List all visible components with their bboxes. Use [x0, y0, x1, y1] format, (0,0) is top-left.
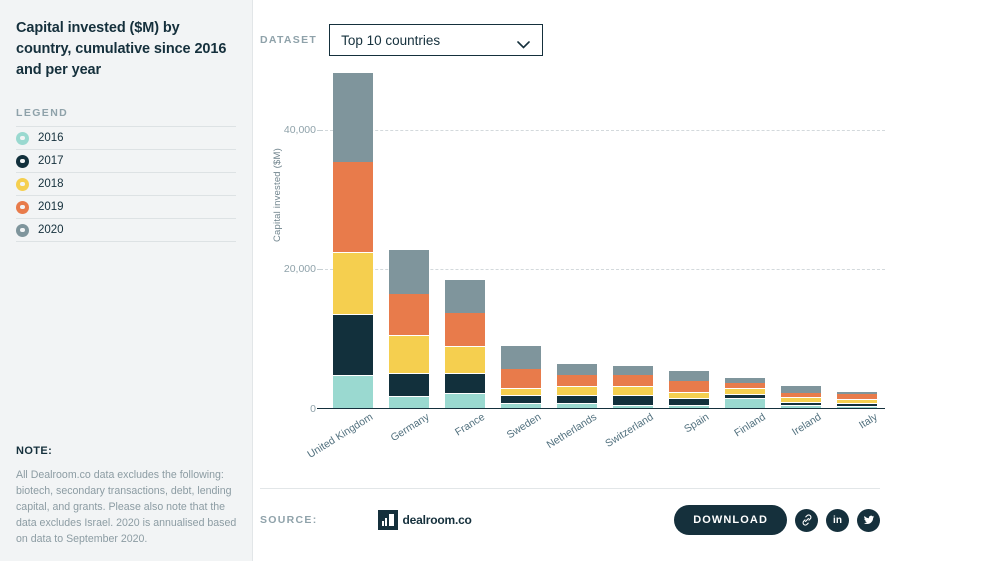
legend-swatch-icon — [16, 155, 29, 168]
footer-actions: DOWNLOAD in — [674, 505, 880, 535]
x-axis-label: Germany — [389, 411, 432, 444]
note-block: NOTE: All Dealroom.co data excludes the … — [16, 445, 238, 547]
bar-segment[interactable] — [613, 366, 653, 374]
legend-heading: LEGEND — [16, 107, 236, 127]
bar-segment[interactable] — [333, 73, 373, 162]
x-axis-label: France — [453, 411, 487, 438]
bar-column[interactable] — [557, 364, 597, 409]
bar-segment[interactable] — [501, 369, 541, 390]
bar-column[interactable] — [781, 386, 821, 409]
legend-item-label: 2018 — [38, 178, 64, 190]
x-axis-label: Switzerland — [603, 411, 655, 450]
legend-item-label: 2016 — [38, 132, 64, 144]
bar-column[interactable] — [613, 366, 653, 409]
bar-segment[interactable] — [445, 374, 485, 394]
main-panel: DATASET Top 10 countries Capital investe… — [253, 0, 995, 561]
footer-divider — [260, 488, 880, 489]
bar-segment[interactable] — [333, 376, 373, 410]
x-axis-label: Netherlands — [545, 411, 599, 451]
bar-segment[interactable] — [501, 389, 541, 396]
bar-column[interactable] — [445, 280, 485, 409]
y-tick-label: 0 — [310, 403, 316, 415]
x-axis-label: United Kingdom — [305, 411, 375, 461]
x-axis-line — [317, 408, 885, 409]
linkedin-icon[interactable]: in — [826, 509, 849, 532]
x-axis-label: Italy — [857, 411, 880, 431]
dataset-control-row: DATASET Top 10 countries — [253, 0, 995, 56]
bar-column[interactable] — [669, 371, 709, 409]
bar-segment[interactable] — [333, 162, 373, 253]
note-body: All Dealroom.co data excludes the follow… — [16, 467, 238, 547]
bar-series-layer — [325, 74, 885, 409]
legend-swatch-icon — [16, 178, 29, 191]
bar-segment[interactable] — [669, 371, 709, 381]
bar-column[interactable] — [837, 392, 877, 409]
download-button[interactable]: DOWNLOAD — [674, 505, 787, 535]
twitter-icon[interactable] — [857, 509, 880, 532]
x-axis-label: Ireland — [790, 411, 824, 438]
y-tick-label: 20,000 — [284, 263, 316, 275]
link-icon[interactable] — [795, 509, 818, 532]
footer: SOURCE: dealroom.co DOWNLOAD in — [260, 504, 880, 536]
x-axis-label: Sweden — [505, 411, 544, 441]
legend-item-label: 2019 — [38, 201, 64, 213]
legend-swatch-icon — [16, 201, 29, 214]
bar-column[interactable] — [333, 73, 373, 409]
bar-column[interactable] — [389, 250, 429, 409]
legend-item[interactable]: 2017 — [16, 150, 236, 173]
bar-segment[interactable] — [445, 313, 485, 347]
bar-segment[interactable] — [445, 280, 485, 314]
page-title: Capital invested ($M) by country, cumula… — [16, 18, 236, 81]
bar-segment[interactable] — [557, 375, 597, 387]
plot-area: 020,00040,000 — [325, 74, 885, 409]
bar-segment[interactable] — [613, 387, 653, 397]
legend-item[interactable]: 2019 — [16, 196, 236, 219]
brand-name: dealroom.co — [403, 513, 472, 527]
chart-page: Capital invested ($M) by country, cumula… — [0, 0, 995, 561]
bar-segment[interactable] — [389, 250, 429, 294]
y-tick-label: 40,000 — [284, 124, 316, 136]
x-axis-labels: United KingdomGermanyFranceSwedenNetherl… — [325, 411, 885, 491]
legend-swatch-icon — [16, 224, 29, 237]
dealroom-logo: dealroom.co — [378, 510, 472, 530]
bar-segment[interactable] — [445, 394, 485, 409]
bar-segment[interactable] — [557, 396, 597, 404]
legend-item[interactable]: 2016 — [16, 127, 236, 150]
bar-segment[interactable] — [333, 315, 373, 376]
y-tick-mark — [317, 269, 323, 270]
note-heading: NOTE: — [16, 445, 238, 457]
dataset-label: DATASET — [260, 34, 317, 46]
bar-segment[interactable] — [613, 396, 653, 405]
bar-segment[interactable] — [501, 396, 541, 404]
bar-segment[interactable] — [557, 364, 597, 374]
chart: Capital invested ($M) 020,00040,000 Unit… — [260, 74, 885, 494]
y-axis-title: Capital invested ($M) — [272, 148, 283, 242]
sidebar: Capital invested ($M) by country, cumula… — [0, 0, 253, 561]
bar-segment[interactable] — [501, 346, 541, 369]
legend-swatch-icon — [16, 132, 29, 145]
bar-segment[interactable] — [669, 381, 709, 393]
bar-segment[interactable] — [613, 375, 653, 387]
bar-segment[interactable] — [445, 347, 485, 374]
legend-item[interactable]: 2018 — [16, 173, 236, 196]
legend-item-label: 2017 — [38, 155, 64, 167]
legend-item[interactable]: 2020 — [16, 219, 236, 242]
dataset-select[interactable]: Top 10 countries — [329, 24, 543, 56]
bar-segment[interactable] — [781, 386, 821, 393]
legend-list: 20162017201820192020 — [16, 127, 236, 242]
bar-segment[interactable] — [389, 336, 429, 374]
chevron-down-icon — [517, 36, 530, 44]
bar-segment[interactable] — [389, 374, 429, 397]
bar-column[interactable] — [501, 346, 541, 409]
x-axis-label: Finland — [732, 411, 768, 439]
legend-item-label: 2020 — [38, 224, 64, 236]
x-axis-label: Spain — [682, 411, 711, 435]
bar-segment[interactable] — [389, 294, 429, 337]
y-tick-mark — [317, 130, 323, 131]
bar-segment[interactable] — [333, 253, 373, 315]
dealroom-mark-icon — [378, 510, 398, 530]
bar-segment[interactable] — [557, 387, 597, 396]
bar-column[interactable] — [725, 378, 765, 409]
source-label: SOURCE: — [260, 514, 318, 526]
dataset-selected-value: Top 10 countries — [341, 33, 440, 48]
